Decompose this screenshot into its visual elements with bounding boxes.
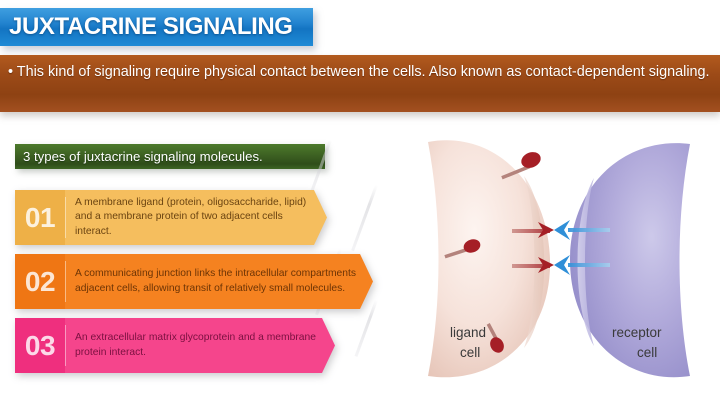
- subheader-text: 3 types of juxtacrine signaling molecule…: [15, 149, 263, 164]
- list-item: 02 A communicating junction links the in…: [15, 254, 373, 309]
- receptor-cell: receptor cell: [570, 143, 690, 377]
- list-item-body: 01 A membrane ligand (protein, oligosacc…: [15, 190, 327, 245]
- description-text: • This kind of signaling require physica…: [0, 55, 720, 83]
- receptor-cell-label-line2: cell: [637, 345, 657, 360]
- page-title: JUXTACRINE SIGNALING: [0, 13, 293, 41]
- ligand-cell-label-line2: cell: [460, 345, 480, 360]
- list-item-description: A membrane ligand (protein, oligosacchar…: [66, 190, 327, 245]
- ligand-cell: ligand cell: [428, 140, 550, 377]
- subheader-bar: 3 types of juxtacrine signaling molecule…: [15, 144, 325, 169]
- page-fold-decoration: [351, 184, 378, 251]
- list-item-description: A communicating junction links the intra…: [66, 254, 373, 309]
- list-item-body: 03 An extracellular matrix glycoprotein …: [15, 318, 335, 373]
- slide-title-bar: JUXTACRINE SIGNALING: [0, 8, 313, 46]
- list-item-number: 01: [15, 190, 65, 245]
- ligand-cell-label-line1: ligand: [450, 325, 486, 340]
- list-item: 03 An extracellular matrix glycoprotein …: [15, 318, 335, 373]
- list-item-number: 02: [15, 254, 65, 309]
- list-item-body: 02 A communicating junction links the in…: [15, 254, 373, 309]
- description-banner: • This kind of signaling require physica…: [0, 55, 720, 112]
- list-item: 01 A membrane ligand (protein, oligosacc…: [15, 190, 327, 245]
- cell-signaling-diagram: ligand cell receptor cell: [398, 124, 720, 396]
- list-item-description: An extracellular matrix glycoprotein and…: [66, 318, 335, 373]
- list-item-number: 03: [15, 318, 65, 373]
- slide-canvas: JUXTACRINE SIGNALING • This kind of sign…: [0, 0, 720, 404]
- receptor-cell-label-line1: receptor: [612, 325, 662, 340]
